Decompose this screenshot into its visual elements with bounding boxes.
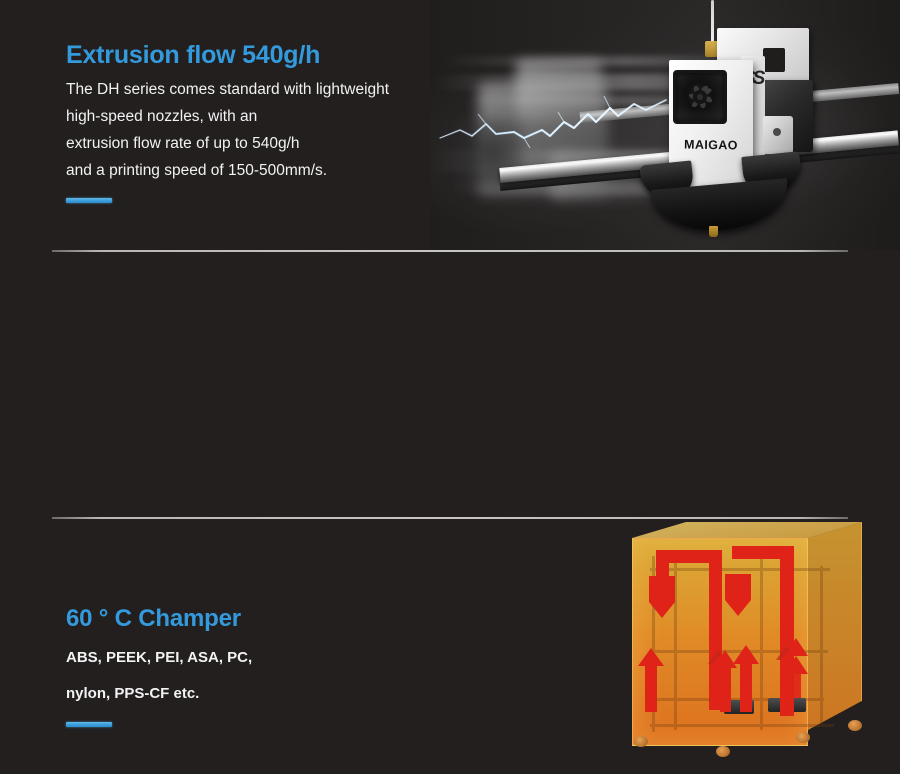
body-line: and a printing speed of 150-500mm/s. bbox=[66, 157, 466, 184]
printhead-on-gantry-image: SS bbox=[430, 0, 900, 250]
chamber-temperature-text: 60 ° C Champer ABS, PEEK, PEI, ASA, PC, … bbox=[66, 604, 426, 727]
body-line: nylon, PPS-CF etc. bbox=[66, 676, 426, 712]
filament-tube bbox=[711, 0, 714, 42]
section-body: The DH series comes standard with lightw… bbox=[66, 76, 466, 184]
cooling-fan-icon bbox=[673, 70, 727, 124]
section-headline: Extrusion flow 540g/h bbox=[66, 40, 466, 70]
section-headline: 60 ° C Champer bbox=[66, 604, 426, 634]
body-line: The DH series comes standard with lightw… bbox=[66, 76, 466, 103]
body-line: high-speed nozzles, with an bbox=[66, 103, 466, 130]
nozzle bbox=[709, 226, 718, 237]
feature-panel: SS bbox=[0, 0, 900, 774]
accent-bar bbox=[66, 722, 112, 727]
carriage-bolt bbox=[773, 128, 781, 136]
extrusion-flow-text: Extrusion flow 540g/h The DH series come… bbox=[66, 40, 466, 203]
brand-label: MAIGAO bbox=[671, 137, 751, 152]
accent-bar bbox=[66, 198, 112, 203]
section-body: ABS, PEEK, PEI, ASA, PC, nylon, PPS-CF e… bbox=[66, 640, 426, 712]
body-line: ABS, PEEK, PEI, ASA, PC, bbox=[66, 640, 426, 676]
section-extrusion-flow: SS bbox=[0, 0, 900, 252]
extruder-head: SS bbox=[645, 8, 825, 248]
section-chamber-temperature: 60 ° C Champer ABS, PEEK, PEI, ASA, PC, … bbox=[0, 252, 900, 518]
body-line: extrusion flow rate of up to 540g/h bbox=[66, 130, 466, 157]
bracket-slot bbox=[763, 48, 785, 72]
